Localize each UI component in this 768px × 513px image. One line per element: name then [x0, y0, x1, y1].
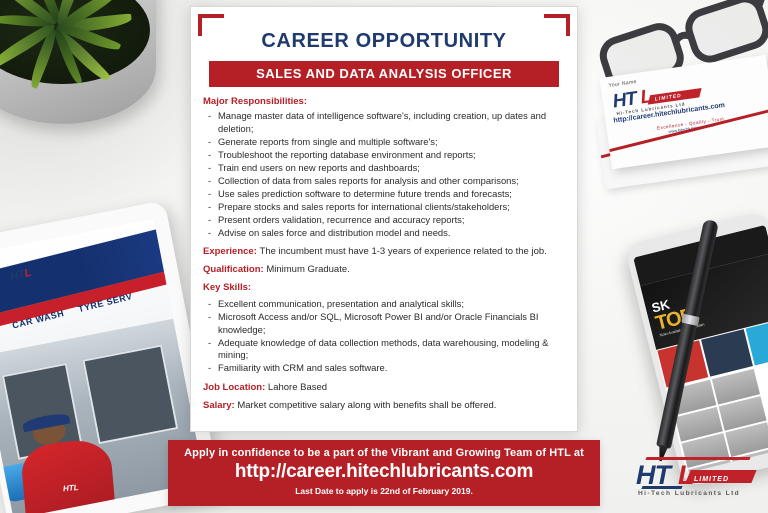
apply-instruction-text: Apply in confidence to be a part of the …: [168, 447, 600, 459]
logo-text-limited: LIMITED: [694, 476, 729, 483]
qualification-section: Qualification: Minimum Graduate.: [203, 264, 565, 275]
worker-uniform-logo: HTL: [62, 483, 78, 493]
responsibilities-heading: Major Responsibilities:: [203, 96, 565, 107]
salary-value: Market competitive salary along with ben…: [237, 400, 496, 411]
list-item: Excellent communication, presentation an…: [207, 298, 565, 311]
job-position-banner: SALES AND DATA ANALYSIS OFFICER: [209, 61, 559, 87]
service-bay: [82, 344, 179, 444]
last-date-text: Last Date to apply is 22nd of February 2…: [168, 486, 600, 496]
job-location-label: Job Location:: [203, 382, 265, 393]
list-item: Train end users on new reports and dashb…: [207, 162, 565, 175]
list-item: Use sales prediction software to determi…: [207, 188, 565, 201]
apply-banner: Apply in confidence to be a part of the …: [168, 440, 600, 506]
list-item: Collection of data from sales reports fo…: [207, 175, 565, 188]
list-item: Microsoft Access and/or SQL, Microsoft P…: [207, 311, 565, 336]
logo-tagline: Hi-Tech Lubricants Ltd: [638, 490, 740, 497]
list-item: Prepare stocks and sales reports for int…: [207, 201, 565, 214]
job-advertisement-flyer: CAREER OPPORTUNITY SALES AND DATA ANALYS…: [190, 6, 578, 432]
job-location-value: Lahore Based: [268, 382, 327, 393]
responsibilities-list: Manage master data of intelligence softw…: [207, 110, 565, 239]
list-item: Adequate knowledge of data collection me…: [207, 337, 565, 362]
list-item: Advise on sales force and distribution m…: [207, 227, 565, 240]
page-title: CAREER OPPORTUNITY: [203, 30, 565, 53]
key-skills-heading: Key Skills:: [203, 282, 565, 293]
list-item: Generate reports from single and multipl…: [207, 136, 565, 149]
corner-bracket-top-right: [544, 14, 570, 36]
list-item: Troubleshoot the reporting database envi…: [207, 149, 565, 162]
list-item: Present orders validation, recurrence an…: [207, 214, 565, 227]
job-location-section: Job Location: Lahore Based: [203, 382, 565, 393]
key-skills-list: Excellent communication, presentation an…: [207, 298, 565, 375]
logo-swoosh-blue: [641, 486, 682, 489]
corner-bracket-top-left: [198, 14, 224, 36]
qualification-label: Qualification:: [203, 264, 264, 275]
salary-label: Salary:: [203, 400, 235, 411]
experience-value: The incumbent must have 1-3 years of exp…: [260, 246, 547, 257]
salary-section: Salary: Market competitive salary along …: [203, 400, 565, 411]
qualification-value: Minimum Graduate.: [266, 264, 349, 275]
career-portal-link[interactable]: http://career.hitechlubricants.com: [168, 461, 600, 483]
experience-section: Experience: The incumbent must have 1-3 …: [203, 246, 565, 257]
htl-logo: HT L LIMITED Hi-Tech Lubricants Ltd: [632, 456, 756, 504]
list-item: Familiarity with CRM and sales software.: [207, 362, 565, 375]
experience-label: Experience:: [203, 246, 257, 257]
list-item: Manage master data of intelligence softw…: [207, 110, 565, 135]
